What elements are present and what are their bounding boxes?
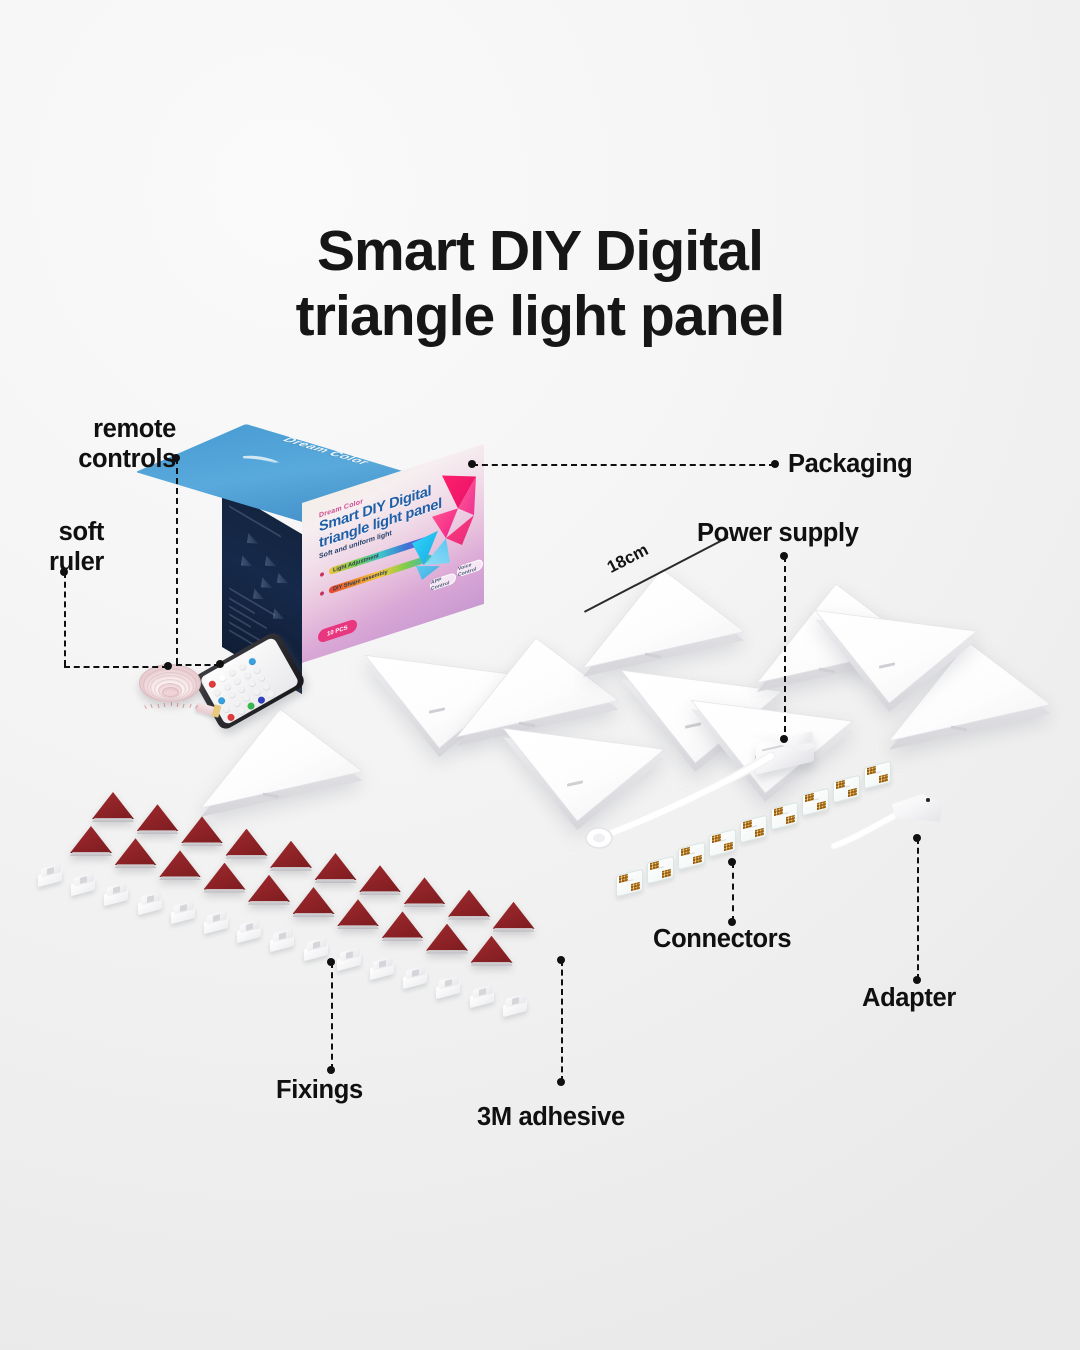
leader-dot-adhesive-start bbox=[557, 956, 565, 964]
title-line-2: triangle light panel bbox=[0, 284, 1080, 349]
callout-adhesive: 3M adhesive bbox=[477, 1103, 625, 1133]
adhesive-pad bbox=[204, 863, 246, 890]
connector-chip bbox=[740, 818, 767, 840]
ruler-tick bbox=[177, 703, 179, 707]
connector-chip bbox=[802, 791, 829, 813]
leader-dot-remote-end bbox=[216, 660, 224, 668]
fixing-clip bbox=[204, 913, 230, 934]
fixing-clip bbox=[370, 959, 396, 980]
adhesive-pad bbox=[159, 850, 201, 877]
box-feature-2: DIY Shape assembly bbox=[333, 569, 388, 593]
leader-dot-packaging-end bbox=[771, 460, 779, 468]
adhesive-pad bbox=[181, 816, 223, 843]
callout-adapter: Adapter bbox=[862, 984, 956, 1014]
title-line-1: Smart DIY Digital bbox=[317, 219, 763, 283]
connector-chip bbox=[678, 845, 705, 867]
leader-dot-fixings-start bbox=[327, 958, 335, 966]
callout-fixings: Fixings bbox=[276, 1076, 363, 1106]
adhesive-pad bbox=[70, 826, 112, 853]
adhesive-pad bbox=[293, 887, 335, 914]
leader-remote-h bbox=[176, 664, 220, 666]
fixing-clip bbox=[337, 950, 363, 971]
connector-chip bbox=[616, 872, 643, 894]
fixing-clip bbox=[71, 875, 97, 896]
adhesive-pad bbox=[115, 838, 157, 865]
leader-ruler-v bbox=[64, 572, 66, 666]
callout-soft-ruler: soft ruler bbox=[0, 518, 104, 578]
fixing-clip bbox=[171, 903, 197, 924]
ruler-tick bbox=[164, 703, 166, 707]
connector-chip bbox=[833, 778, 860, 800]
adhesive-pad bbox=[270, 841, 312, 868]
leader-dot-adapter-end bbox=[913, 976, 921, 984]
adapter-controller bbox=[890, 790, 946, 832]
fixing-clip bbox=[503, 996, 529, 1017]
box-product-artwork bbox=[402, 461, 480, 594]
page-title: Smart DIY Digital triangle light panel bbox=[0, 219, 1080, 349]
adhesive-pad bbox=[404, 877, 446, 904]
adhesive-pad bbox=[448, 890, 490, 917]
callout-remote-controls: remote controls bbox=[0, 415, 176, 475]
adhesive-pad bbox=[137, 804, 179, 831]
box-feature-1: Light Adjustment bbox=[333, 553, 379, 574]
connector-chip bbox=[709, 832, 736, 854]
callout-packaging: Packaging bbox=[788, 450, 912, 480]
leader-dot-adhesive-end bbox=[557, 1078, 565, 1086]
packaging-box: Dream Color Dream Color Smart DIY Digita… bbox=[222, 424, 484, 674]
fixing-clip bbox=[38, 866, 64, 887]
fixing-clip bbox=[138, 894, 164, 915]
ruler-tick bbox=[157, 703, 159, 707]
connector-chip bbox=[647, 859, 674, 881]
ruler-tick bbox=[183, 703, 185, 707]
ruler-tick bbox=[171, 702, 172, 706]
connector-chip bbox=[864, 764, 891, 786]
adapter-led-icon bbox=[926, 798, 930, 802]
adhesive-pad bbox=[493, 902, 535, 929]
ruler-tick bbox=[144, 705, 147, 709]
fixing-clip bbox=[270, 931, 296, 952]
leader-dot-adapter-start bbox=[913, 834, 921, 842]
infographic-canvas: Smart DIY Digital triangle light panel bbox=[0, 0, 1080, 1350]
leader-power-supply bbox=[784, 556, 786, 742]
adhesive-pad bbox=[359, 865, 401, 892]
adhesive-pad bbox=[226, 829, 268, 856]
leader-packaging bbox=[472, 464, 775, 466]
fixing-clip bbox=[237, 922, 263, 943]
fixing-clip bbox=[104, 885, 130, 906]
leader-dot-ruler-end bbox=[164, 662, 172, 670]
triangle-light-panel bbox=[812, 600, 980, 720]
adhesive-pad bbox=[92, 792, 134, 819]
leader-dot-fixings-end bbox=[327, 1066, 335, 1074]
leader-ruler-h bbox=[64, 666, 168, 668]
ruler-coil bbox=[162, 687, 179, 698]
leader-dot-packaging-start bbox=[468, 460, 476, 468]
adhesive-pad bbox=[426, 924, 468, 951]
fixing-clip bbox=[304, 940, 330, 961]
soft-ruler-tape-measure bbox=[136, 662, 216, 724]
connector-chip bbox=[771, 805, 798, 827]
fixing-clip bbox=[403, 968, 429, 989]
leader-fixings bbox=[331, 962, 333, 1070]
adhesive-pad bbox=[315, 853, 357, 880]
adhesive-pad bbox=[337, 899, 379, 926]
callout-power-supply: Power supply bbox=[697, 519, 859, 549]
leader-connectors bbox=[732, 862, 734, 922]
leader-dot-power-start bbox=[780, 552, 788, 560]
ruler-tick bbox=[189, 704, 192, 708]
leader-dot-connectors-start bbox=[728, 858, 736, 866]
leader-adapter bbox=[917, 838, 919, 980]
adhesive-pad bbox=[248, 875, 290, 902]
box-quantity-badge: 10 PCS bbox=[318, 618, 357, 644]
leader-remote-v bbox=[176, 458, 178, 664]
fixing-clip bbox=[470, 987, 496, 1008]
adhesive-pad bbox=[382, 911, 424, 938]
leader-adhesive bbox=[561, 960, 563, 1082]
callout-connectors: Connectors bbox=[653, 925, 791, 955]
fixing-clip bbox=[436, 978, 462, 999]
adhesive-pad bbox=[471, 936, 513, 963]
ruler-tick bbox=[151, 704, 154, 708]
leader-dot-power-end bbox=[780, 735, 788, 743]
